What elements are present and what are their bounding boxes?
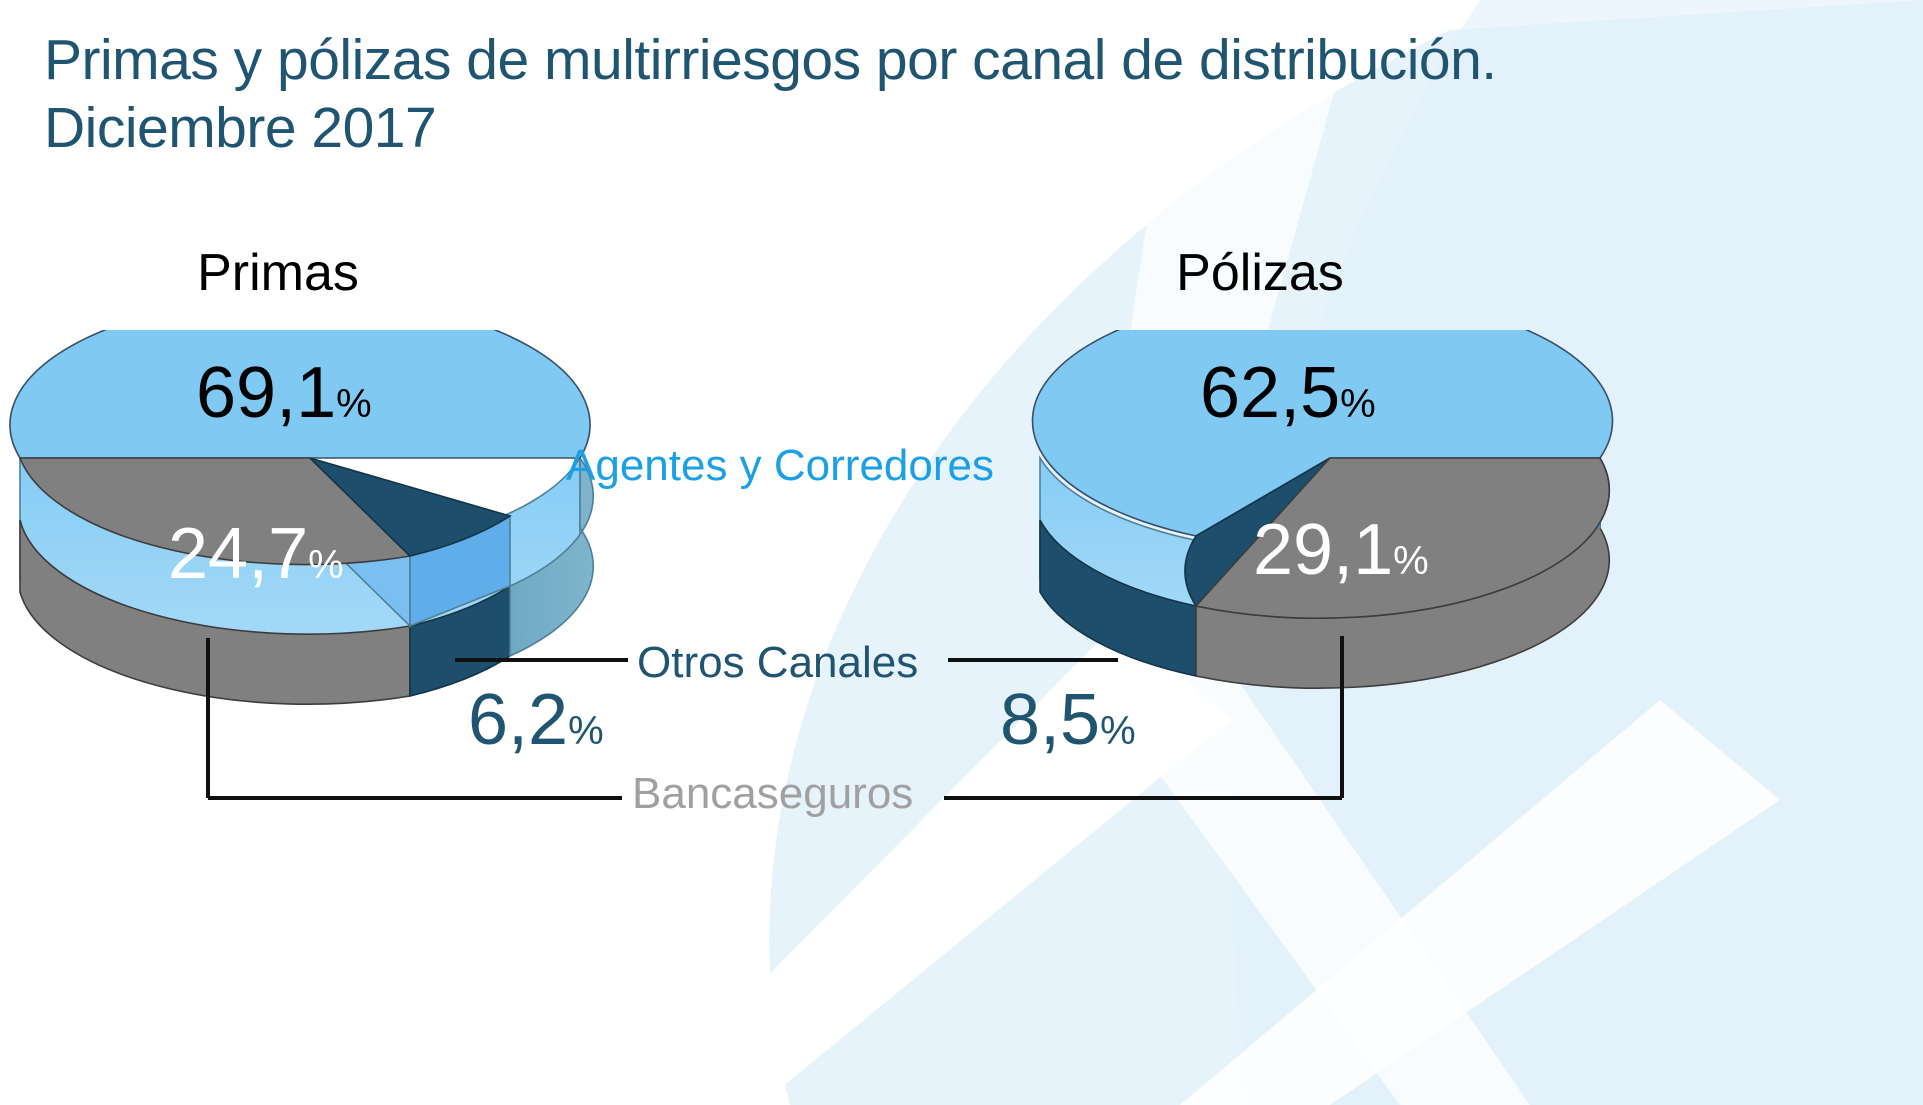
pct-polizas-agentes-symbol: %	[1340, 382, 1376, 426]
pct-primas-otros-canales: 6,2%	[468, 684, 604, 756]
pct-polizas-agentes-value: 62,5	[1200, 353, 1340, 433]
pct-primas-banca-symbol: %	[308, 543, 344, 587]
pct-primas-otros-symbol: %	[568, 709, 604, 753]
legend-label-agentes-y-corredores: Agentes y Corredores	[566, 444, 994, 488]
chart-title-primas: Primas	[128, 243, 428, 303]
pct-primas-agentes-symbol: %	[336, 382, 372, 426]
pct-polizas-agentes: 62,5%	[1200, 357, 1376, 429]
legend-label-otros-canales: Otros Canales	[637, 641, 918, 685]
pct-polizas-bancaseguros: 29,1%	[1253, 514, 1429, 586]
pct-polizas-otros-canales: 8,5%	[1000, 684, 1136, 756]
slide-title: Primas y pólizas de multirriesgos por ca…	[44, 26, 1544, 162]
pct-primas-bancaseguros: 24,7%	[168, 518, 344, 590]
pct-primas-banca-value: 24,7	[168, 514, 308, 594]
pct-polizas-otros-symbol: %	[1100, 709, 1136, 753]
pct-polizas-banca-value: 29,1	[1253, 510, 1393, 590]
slide-canvas: Primas y pólizas de multirriesgos por ca…	[0, 0, 1923, 1105]
chart-title-polizas: Pólizas	[1110, 243, 1410, 303]
pct-polizas-otros-value: 8,5	[1000, 680, 1100, 760]
pct-primas-agentes: 69,1%	[196, 357, 372, 429]
pct-polizas-banca-symbol: %	[1393, 539, 1429, 583]
pct-primas-agentes-value: 69,1	[196, 353, 336, 433]
legend-label-bancaseguros: Bancaseguros	[632, 772, 913, 816]
pct-primas-otros-value: 6,2	[468, 680, 568, 760]
